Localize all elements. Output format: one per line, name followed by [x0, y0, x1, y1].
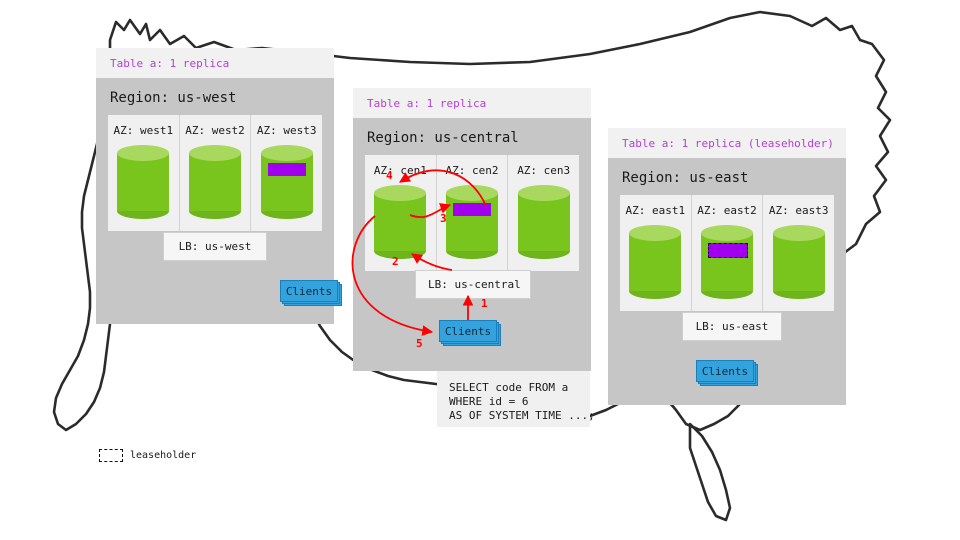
clients-label: Clients: [280, 280, 338, 302]
flow-arrow-2: [412, 254, 452, 270]
query-flow-arrows: [0, 0, 960, 540]
flow-number-4: 4: [386, 169, 393, 182]
flow-arrow-4: [400, 170, 486, 206]
clients-label: Clients: [439, 320, 497, 342]
flow-number-3: 3: [440, 212, 447, 225]
flow-number-2: 2: [392, 255, 399, 268]
clients-label: Clients: [696, 360, 754, 382]
flow-number-5: 5: [416, 337, 423, 350]
flow-arrow-5: [353, 216, 432, 332]
flow-number-1: 1: [481, 297, 488, 310]
